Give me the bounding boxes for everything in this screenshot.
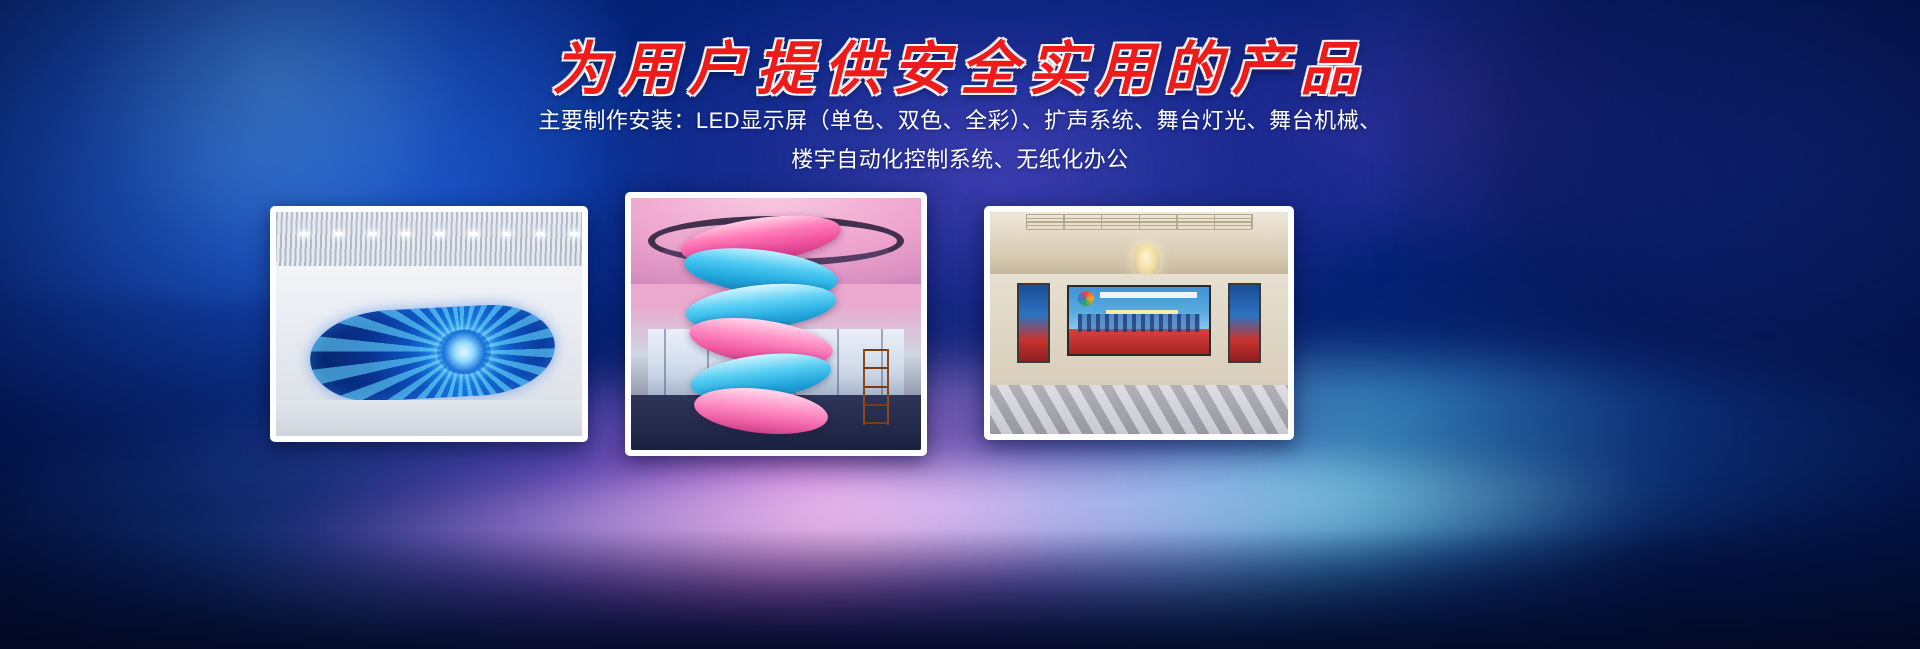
gallery-item-spiral-led-ribbon-column[interactable] [625,192,927,456]
gallery-item-banquet-hall-led-screens[interactable] [984,206,1294,440]
photo-banquet-hall-led-screens [990,212,1288,434]
banner-content: 为用户提供安全实用的产品 主要制作安装：LED显示屏（单色、双色、全彩）、扩声系… [0,0,1920,649]
photo-spiral-led-ribbon-column [631,198,921,450]
photo3-coffered-grid [1026,214,1252,229]
photo3-right-led-panel [1228,283,1261,363]
photo-eye-shaped-led-display [276,212,582,436]
photo3-screen-skyline [1078,314,1200,331]
photo2-led-band [692,382,830,440]
gallery-item-eye-shaped-led-display[interactable] [270,206,588,442]
photo3-screen-subtitle-bar [1106,310,1178,314]
photo3-floor [990,385,1288,434]
photo1-eye-led-screen [307,302,556,404]
photo1-ceiling-lights [276,232,582,236]
photo1-ceiling [276,212,582,270]
photo3-main-led-screen [1067,285,1210,356]
project-photo-gallery [0,0,1920,649]
photo1-floor [276,400,582,436]
photo3-screen-ground [1069,329,1208,354]
photo2-step-ladder [863,349,889,425]
photo3-left-led-panel [1017,283,1050,363]
photo2-spiral-led-bands [677,213,845,445]
promo-banner: 为用户提供安全实用的产品 主要制作安装：LED显示屏（单色、双色、全彩）、扩声系… [0,0,1920,649]
photo3-screen-title-bar [1100,292,1197,298]
